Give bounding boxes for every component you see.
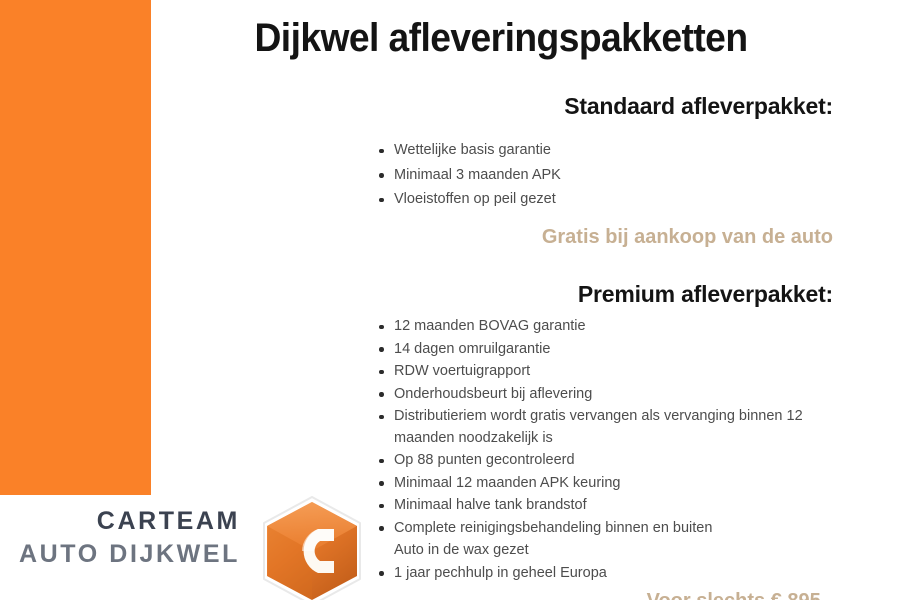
- list-item: Minimaal 3 maanden APK: [376, 165, 836, 187]
- list-item: Vloeistoffen op peil gezet: [376, 189, 836, 211]
- list-item: Wettelijke basis garantie: [376, 140, 836, 162]
- logo-line-carteam: CARTEAM: [0, 505, 240, 538]
- section-heading-premium: Premium afleverpakket:: [578, 280, 833, 308]
- list-item: Op 88 punten gecontroleerd: [376, 450, 836, 472]
- list-item: RDW voertuigrapport: [376, 361, 836, 383]
- list-item: 14 dagen omruilgarantie: [376, 339, 836, 361]
- list-item-label: 1 jaar pechhulp in geheel Europa: [394, 565, 607, 581]
- section-heading-standaard: Standaard afleverpakket:: [564, 92, 833, 120]
- orange-accent-panel: [0, 0, 151, 495]
- list-item-label: Minimaal 3 maanden APK: [394, 167, 561, 183]
- list-item: Minimaal 12 maanden APK keuring: [376, 473, 836, 495]
- list-item: Onderhoudsbeurt bij aflevering: [376, 384, 836, 406]
- hexagon-c-icon: [256, 495, 368, 600]
- list-item-label: RDW voertuigrapport: [394, 363, 530, 379]
- list-item-label: Wettelijke basis garantie: [394, 142, 551, 158]
- list-item-label: 14 dagen omruilgarantie: [394, 341, 550, 357]
- list-item: Minimaal halve tank brandstof: [376, 495, 836, 517]
- list-item-label: 12 maanden BOVAG garantie: [394, 318, 586, 334]
- list-item-label: Distributieriem wordt gratis vervangen a…: [394, 408, 803, 446]
- list-item-label: Op 88 punten gecontroleerd: [394, 452, 575, 468]
- tagline-standaard: Gratis bij aankoop van de auto: [542, 224, 833, 250]
- list-item-label: Vloeistoffen op peil gezet: [394, 191, 556, 207]
- feature-list-standaard: Wettelijke basis garantie Minimaal 3 maa…: [376, 140, 836, 214]
- list-item-label: Minimaal 12 maanden APK keuring: [394, 475, 621, 491]
- list-item: Complete reinigingsbehandeling binnen en…: [376, 518, 836, 540]
- list-item-label: Auto in de wax gezet: [394, 542, 529, 558]
- list-item: 12 maanden BOVAG garantie: [376, 316, 836, 338]
- list-item-label: Onderhoudsbeurt bij aflevering: [394, 386, 592, 402]
- list-item-label: Complete reinigingsbehandeling binnen en…: [394, 520, 712, 536]
- list-item: Distributieriem wordt gratis vervangen a…: [376, 406, 836, 449]
- list-item: 1 jaar pechhulp in geheel Europa: [376, 563, 836, 585]
- page-title: Dijkwel afleveringspakketten: [176, 14, 827, 62]
- list-item-label: Minimaal halve tank brandstof: [394, 497, 587, 513]
- logo-line-auto-dijkwel: AUTO DIJKWEL: [0, 538, 240, 571]
- poster-canvas: Dijkwel afleveringspakketten Standaard a…: [0, 0, 902, 600]
- logo-wordmark: CARTEAM AUTO DIJKWEL: [0, 505, 240, 571]
- feature-list-premium: 12 maanden BOVAG garantie 14 dagen omrui…: [376, 316, 836, 585]
- tagline-premium: Voor slechts € 895,-: [647, 588, 833, 600]
- list-item: Auto in de wax gezet: [376, 540, 836, 562]
